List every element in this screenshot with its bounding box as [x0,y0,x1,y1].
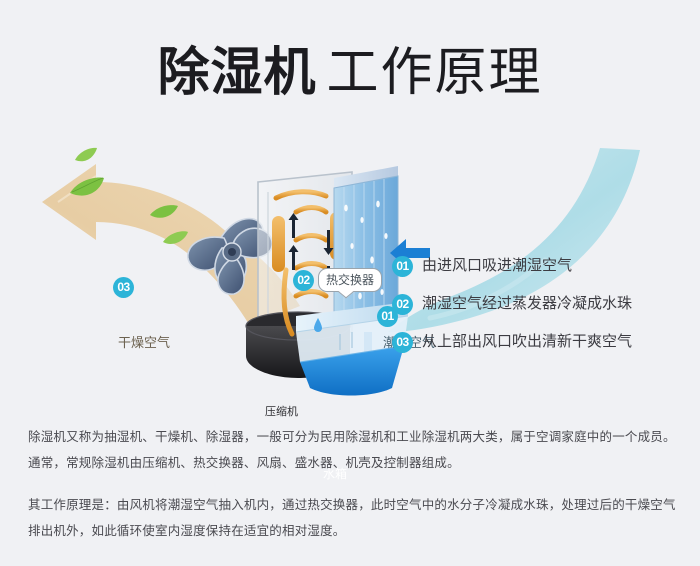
step-list: 01 由进风口吸进潮湿空气 02 潮湿空气经过蒸发器冷凝成水珠 03 从上部出风… [392,255,692,369]
step-badge: 01 [392,256,413,277]
step-badge: 03 [392,332,413,353]
page-title: 除湿机工作原理 [0,30,700,105]
list-item: 01 由进风口吸进潮湿空气 [392,255,692,293]
paragraph-line: 排出机外，如此循环使室内湿度保持在适宜的相对湿度。 [28,518,676,544]
badge-dry-air: 03 [113,277,134,298]
page-title-strong: 除湿机 [157,44,316,102]
list-item: 03 从上部出风口吹出清新干爽空气 [392,331,692,369]
step-text: 潮湿空气经过蒸发器冷凝成水珠 [422,293,632,314]
step-text: 从上部出风口吹出清新干爽空气 [422,331,632,352]
step-badge: 02 [392,294,413,315]
paragraph-line: 除湿机又称为抽湿机、干燥机、除湿器，一般可分为民用除湿机和工业除湿机两大类，属于… [28,424,676,450]
description-paragraph-2: 其工作原理是：由风机将潮湿空气抽入机内，通过热交换器，此时空气中的水分子冷凝成水… [28,492,676,544]
paragraph-line: 通常，常规除湿机由压缩机、热交换器、风扇、盛水器、机壳及控制器组成。 [28,450,676,476]
infographic-page: 除湿机工作原理 [0,0,700,566]
paragraph-line: 其工作原理是：由风机将潮湿空气抽入机内，通过热交换器，此时空气中的水分子冷凝成水… [28,492,676,518]
step-text: 由进风口吸进潮湿空气 [422,255,572,276]
page-title-light: 工作原理 [327,44,543,102]
badge-heat-exchanger: 02 [293,270,314,291]
label-compressor: 压缩机 [265,403,298,419]
label-dry-air: 干燥空气 [118,332,170,351]
list-item: 02 潮湿空气经过蒸发器冷凝成水珠 [392,293,692,331]
evaporator-block [334,166,398,326]
description-paragraph-1: 除湿机又称为抽湿机、干燥机、除湿器，一般可分为民用除湿机和工业除湿机两大类，属于… [28,424,676,476]
callout-heat-exchanger: 热交换器 [318,268,382,292]
